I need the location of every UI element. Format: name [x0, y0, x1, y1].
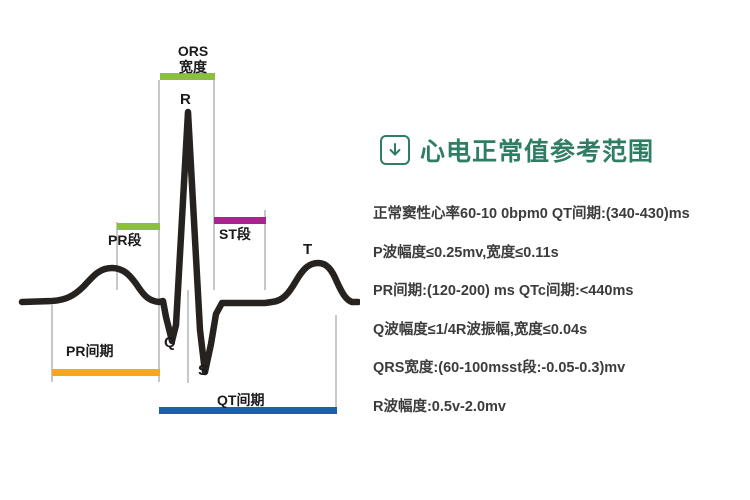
pr-interval-bar [52, 369, 160, 376]
spec-line: QRS宽度:(60-100msst段:-0.05-0.3)mv [373, 361, 749, 376]
spec-line: P波幅度≤0.25mv,宽度≤0.11s [373, 246, 749, 261]
qt-interval-label: QT间期 [217, 393, 264, 407]
qt-interval-bar [159, 407, 337, 414]
panel-title-row: 心电正常值参考范围 [380, 132, 654, 168]
download-arrow-icon [380, 135, 410, 165]
st-segment-label: ST段 [219, 227, 251, 241]
spec-line: R波幅度:0.5v-2.0mv [373, 400, 749, 415]
pr-interval-label: PR间期 [66, 344, 113, 358]
reference-values-panel: 心电正常值参考范围 正常窦性心率60-10 0bpm0 QT间期:(340-43… [372, 0, 750, 500]
qrs-width-label-line1: ORS [178, 43, 208, 59]
spec-line: Q波幅度≤1/4R波振幅,宽度≤0.04s [373, 323, 749, 338]
wave-label-r: R [180, 92, 191, 107]
page-title: 心电正常值参考范围 [420, 132, 654, 168]
st-segment-bar [214, 217, 266, 224]
spec-list: 正常窦性心率60-10 0bpm0 QT间期:(340-430)ms P波幅度≤… [373, 207, 749, 414]
wave-label-q: Q [164, 335, 176, 350]
pr-segment-label: PR段 [108, 233, 141, 247]
qrs-width-label: ORS 宽度 [165, 43, 221, 75]
spec-line: PR间期:(120-200) ms QTc间期:<440ms [373, 284, 749, 299]
wave-label-t: T [303, 242, 312, 257]
wave-label-s: S [198, 363, 208, 378]
ecg-diagram: R Q S T ORS 宽度 PR段 ST段 PR间期 QT间期 [0, 0, 360, 500]
qrs-width-label-line2: 宽度 [165, 59, 221, 75]
ecg-reference-infographic: R Q S T ORS 宽度 PR段 ST段 PR间期 QT间期 心电正常值参考… [0, 0, 750, 500]
spec-line: 正常窦性心率60-10 0bpm0 QT间期:(340-430)ms [373, 207, 749, 222]
pr-segment-bar [117, 223, 160, 230]
